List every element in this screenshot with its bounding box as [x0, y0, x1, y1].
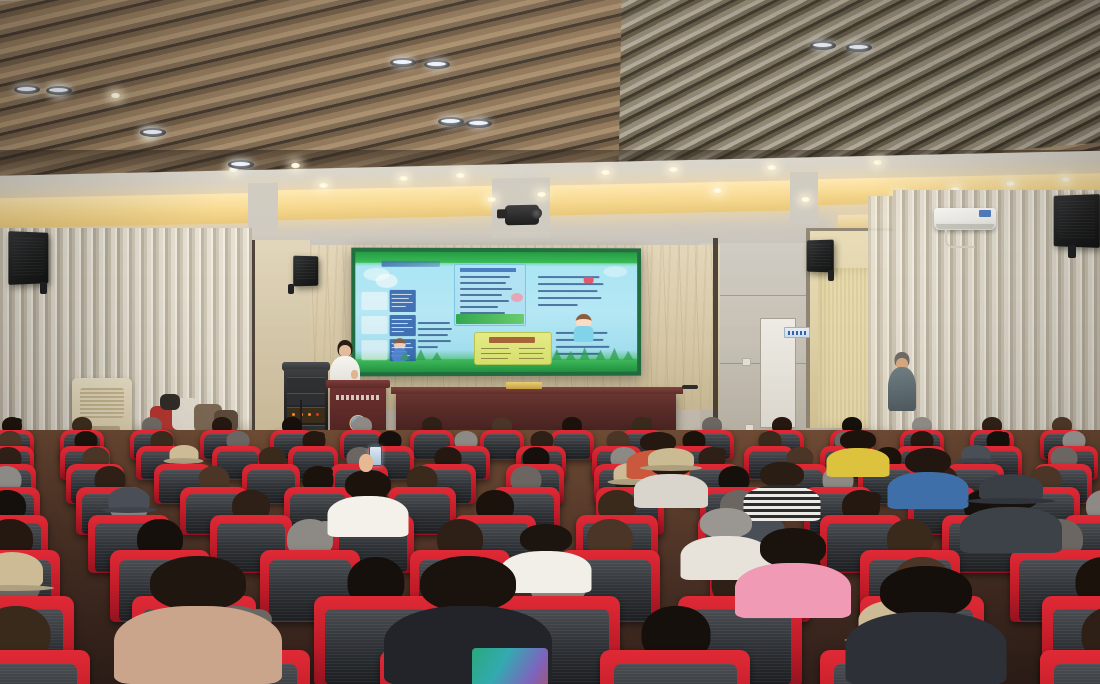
head — [760, 462, 804, 487]
downlight-icon — [398, 175, 409, 182]
speaker-bracket — [40, 282, 47, 294]
hair-bun — [715, 448, 726, 456]
downlight-icon — [668, 166, 679, 173]
ac-pipe — [945, 230, 975, 248]
person-gray-hair — [700, 508, 752, 574]
speaker-bracket — [828, 270, 834, 281]
ceiling-spotlight-icon — [228, 160, 254, 169]
child-in-white — [520, 524, 572, 588]
wall-speaker-icon — [1054, 194, 1100, 248]
hair-bun — [866, 492, 881, 504]
head — [150, 556, 246, 610]
ceiling-spotlight-icon — [846, 43, 872, 52]
auditorium-seat[interactable] — [0, 650, 90, 684]
hair-bun — [321, 467, 333, 477]
downlight-icon — [290, 162, 301, 169]
woman-filming-with-phone — [345, 470, 391, 532]
cap-icon — [169, 445, 198, 461]
standing-attendee — [888, 352, 916, 416]
wall-outlet — [742, 358, 751, 366]
shoulders — [960, 507, 1062, 553]
speaker-bracket — [1068, 245, 1076, 258]
cap-icon — [961, 445, 990, 461]
podium-inscription — [336, 395, 380, 400]
front-audience-member — [150, 556, 246, 674]
downlight-icon — [536, 191, 547, 198]
ceiling-spotlight-icon — [438, 117, 464, 126]
shoulders — [735, 563, 851, 618]
auditorium-seat[interactable] — [1040, 650, 1100, 684]
man-in-graphic-tshirt — [420, 556, 516, 676]
person-yellow-shirt — [840, 430, 876, 474]
ceiling-spotlight-icon — [46, 86, 72, 95]
shoulders — [328, 496, 409, 537]
downlight-icon — [712, 187, 723, 194]
exit-information-sign — [784, 327, 810, 338]
slide-content — [355, 252, 637, 373]
ceiling-spotlight-icon — [424, 60, 450, 69]
head — [840, 430, 876, 450]
hair-bun — [1000, 432, 1009, 439]
shirt-graphic — [472, 648, 548, 684]
wall-speaker-icon — [807, 240, 834, 273]
ceiling-spotlight-icon — [390, 58, 416, 67]
front-audience-member — [880, 566, 972, 676]
cove-light-panel — [545, 180, 795, 215]
slide-highlight-callout — [474, 332, 552, 365]
hair-bun — [316, 432, 325, 439]
ceiling-spotlight-icon — [140, 128, 166, 137]
speaker-bracket — [288, 284, 294, 294]
seat-mesh — [0, 664, 77, 684]
shoulders — [634, 474, 708, 508]
head — [420, 556, 516, 611]
downlight-icon — [872, 159, 883, 166]
wall-speaker-icon — [8, 231, 48, 285]
downlight-icon — [1005, 180, 1016, 187]
ceiling-spotlight-icon — [466, 119, 492, 128]
table-microphone — [682, 385, 698, 389]
downlight-icon — [110, 92, 121, 99]
air-conditioner-split-unit — [934, 208, 996, 230]
person-in-blue-shirt — [905, 448, 951, 504]
downlight-icon — [800, 196, 811, 203]
ceiling-rib — [248, 183, 278, 236]
ceiling-spotlight-icon — [810, 41, 836, 50]
downlight-icon — [600, 169, 611, 176]
head — [880, 566, 972, 617]
auditorium-photo — [0, 0, 1100, 684]
head — [700, 508, 752, 538]
person-in-pink-shirt — [760, 528, 826, 612]
slide-title-bar — [382, 261, 440, 267]
wall-trim-right — [713, 238, 718, 438]
shoulders — [846, 612, 1007, 684]
head — [520, 524, 572, 553]
table-nameplate — [506, 382, 542, 389]
cap-icon — [0, 552, 43, 588]
cap-icon — [109, 487, 150, 510]
person-striped-shirt — [760, 462, 804, 516]
auditorium-seat[interactable] — [600, 650, 750, 684]
seat-mesh — [1054, 664, 1100, 684]
ceiling-projector-icon — [505, 205, 539, 226]
shoulders — [114, 606, 282, 684]
head — [905, 448, 951, 474]
raised-hand — [359, 454, 373, 472]
hair-bun — [14, 418, 22, 424]
slide-illustration-child — [570, 314, 598, 348]
shoulders — [827, 448, 890, 477]
hair-bun — [644, 418, 652, 424]
downlight-icon — [486, 196, 497, 203]
projection-screen — [351, 248, 641, 377]
shoulders — [888, 472, 969, 509]
person-beige-cap — [650, 452, 692, 504]
cove-light-panel — [272, 186, 497, 221]
ceiling-spotlight-icon — [14, 85, 40, 94]
seat-mesh — [614, 664, 737, 684]
downlight-icon — [318, 182, 329, 189]
wall-speaker-icon — [293, 256, 318, 287]
downlight-icon — [1060, 176, 1071, 183]
downlight-icon — [766, 164, 777, 171]
shoulders — [744, 485, 821, 521]
cap-icon — [648, 448, 694, 468]
cap-icon — [979, 474, 1043, 501]
downlight-icon — [455, 172, 466, 179]
man-with-black-cap — [982, 478, 1040, 548]
